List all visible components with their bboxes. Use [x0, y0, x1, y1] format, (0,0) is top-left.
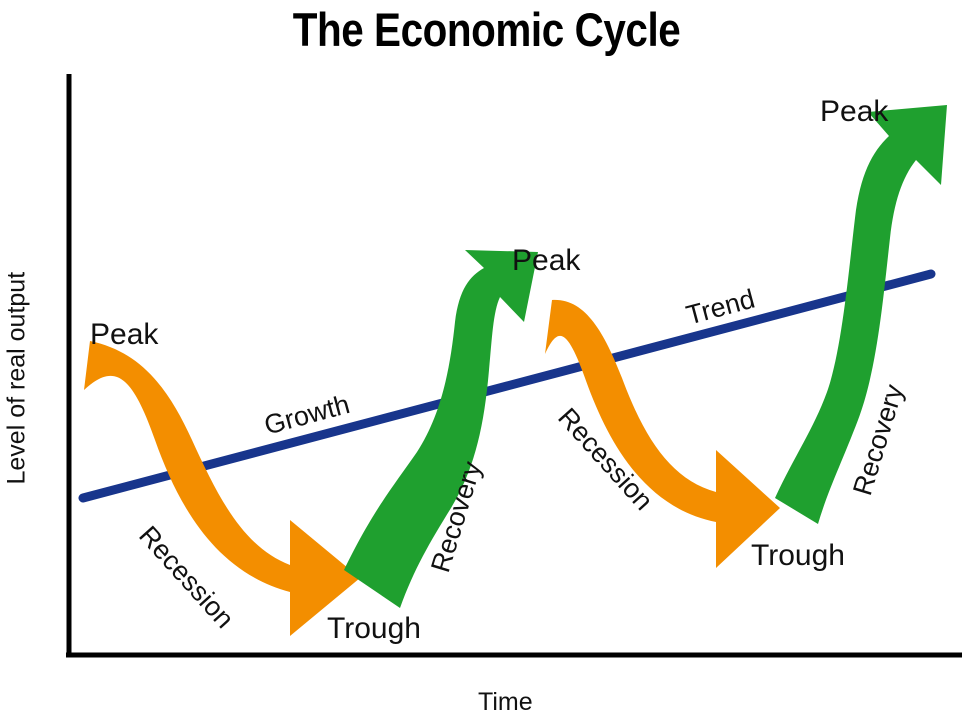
economic-cycle-figure: The Economic Cycle Level of real output …	[0, 0, 973, 724]
label-peak-3: Peak	[820, 97, 888, 127]
label-peak-2: Peak	[512, 246, 580, 276]
x-axis-label: Time	[478, 690, 533, 715]
label-trough-2: Trough	[751, 541, 845, 571]
label-peak-1: Peak	[90, 320, 158, 350]
label-trough-1: Trough	[327, 614, 421, 644]
y-axis-label: Level of real output	[5, 272, 30, 485]
